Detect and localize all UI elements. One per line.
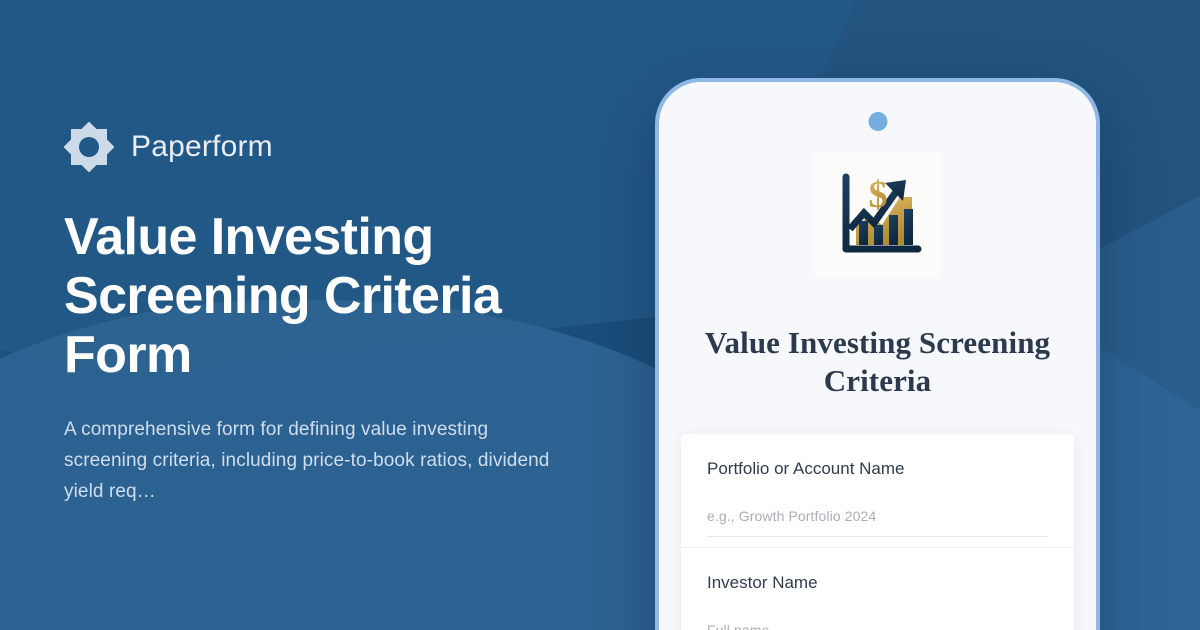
camera-dot-icon [868, 112, 887, 131]
growth-chart-dollar-icon: $ [814, 152, 942, 278]
page-description: A comprehensive form for defining value … [64, 415, 564, 508]
svg-text:$: $ [868, 174, 887, 216]
brand-name: Paperform [131, 132, 273, 162]
hero-content: Paperform Value Investing Screening Crit… [64, 0, 609, 630]
og-image-canvas: Paperform Value Investing Screening Crit… [0, 0, 1200, 630]
form-title: Value Investing Screening Criteria [683, 324, 1072, 400]
paperform-logo-icon [64, 122, 114, 172]
brand-lockup: Paperform [64, 122, 609, 172]
investor-name-input[interactable]: Full name [707, 622, 1048, 630]
field-label: Investor Name [707, 572, 1048, 594]
page-title: Value Investing Screening Criteria Form [64, 208, 564, 384]
field-label: Portfolio or Account Name [707, 458, 1048, 480]
form-field-investor-name: Investor Name Full name [681, 548, 1074, 630]
portfolio-name-input[interactable]: e.g., Growth Portfolio 2024 [707, 508, 1048, 537]
phone-mockup: $ Value Investing Screening Criteria Por… [655, 78, 1100, 630]
form-field-portfolio-name: Portfolio or Account Name e.g., Growth P… [681, 434, 1074, 548]
form-card: Portfolio or Account Name e.g., Growth P… [681, 434, 1074, 630]
